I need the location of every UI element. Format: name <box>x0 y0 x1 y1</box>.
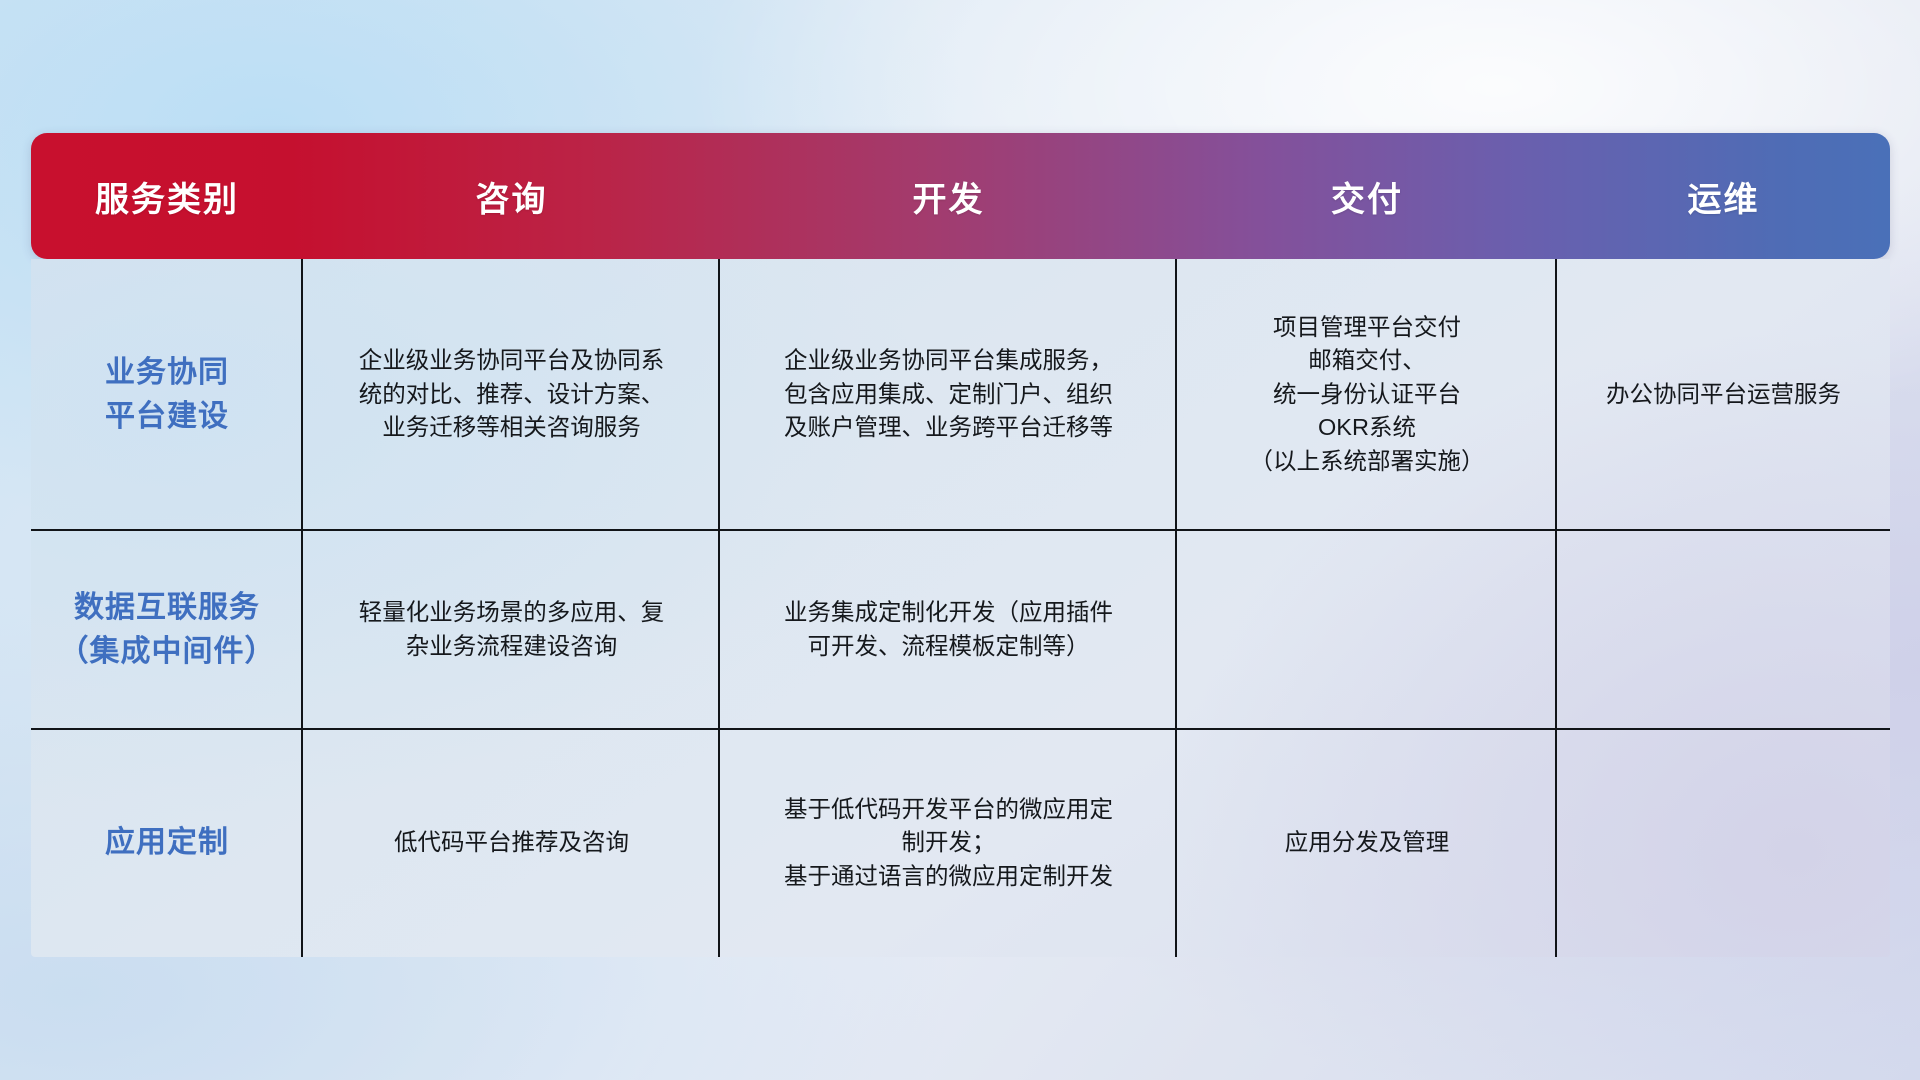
header-cell-category: 服务类别 <box>31 133 303 259</box>
cell-row1-development: 企业级业务协同平台集成服务， 包含应用集成、定制门户、组织 及账户管理、业务跨平… <box>720 259 1177 530</box>
header-cell-development: 开发 <box>720 133 1177 259</box>
cell-row2-delivery <box>1177 530 1557 729</box>
slide-canvas: 服务类别 咨询 开发 交付 运维 业务协同 平台建设 企业级业务协同平台及协同系… <box>0 0 1920 1080</box>
row-label-business-collaboration: 业务协同 平台建设 <box>31 259 303 530</box>
cell-row3-operations <box>1557 729 1890 957</box>
cell-row2-operations <box>1557 530 1890 729</box>
cell-row2-development: 业务集成定制化开发（应用插件 可开发、流程模板定制等） <box>720 530 1177 729</box>
table-body: 业务协同 平台建设 企业级业务协同平台及协同系 统的对比、推荐、设计方案、 业务… <box>31 259 1890 957</box>
cell-row3-delivery: 应用分发及管理 <box>1177 729 1557 957</box>
table-header-row: 服务类别 咨询 开发 交付 运维 <box>31 133 1890 259</box>
header-cell-delivery: 交付 <box>1177 133 1557 259</box>
header-cell-consulting: 咨询 <box>303 133 720 259</box>
cell-row1-operations: 办公协同平台运营服务 <box>1557 259 1890 530</box>
row-label-app-customization: 应用定制 <box>31 729 303 957</box>
table-row: 应用定制 低代码平台推荐及咨询 基于低代码开发平台的微应用定 制开发； 基于通过… <box>31 729 1890 957</box>
cell-row1-consulting: 企业级业务协同平台及协同系 统的对比、推荐、设计方案、 业务迁移等相关咨询服务 <box>303 259 720 530</box>
table-row: 业务协同 平台建设 企业级业务协同平台及协同系 统的对比、推荐、设计方案、 业务… <box>31 259 1890 530</box>
table-row: 数据互联服务 （集成中间件） 轻量化业务场景的多应用、复 杂业务流程建设咨询 业… <box>31 530 1890 729</box>
cell-row3-consulting: 低代码平台推荐及咨询 <box>303 729 720 957</box>
service-matrix-table: 服务类别 咨询 开发 交付 运维 业务协同 平台建设 企业级业务协同平台及协同系… <box>31 133 1890 957</box>
header-cell-operations: 运维 <box>1557 133 1890 259</box>
cell-row1-delivery: 项目管理平台交付 邮箱交付、 统一身份认证平台 OKR系统 （以上系统部署实施） <box>1177 259 1557 530</box>
row-label-data-interconnection: 数据互联服务 （集成中间件） <box>31 530 303 729</box>
cell-row3-development: 基于低代码开发平台的微应用定 制开发； 基于通过语言的微应用定制开发 <box>720 729 1177 957</box>
cell-row2-consulting: 轻量化业务场景的多应用、复 杂业务流程建设咨询 <box>303 530 720 729</box>
